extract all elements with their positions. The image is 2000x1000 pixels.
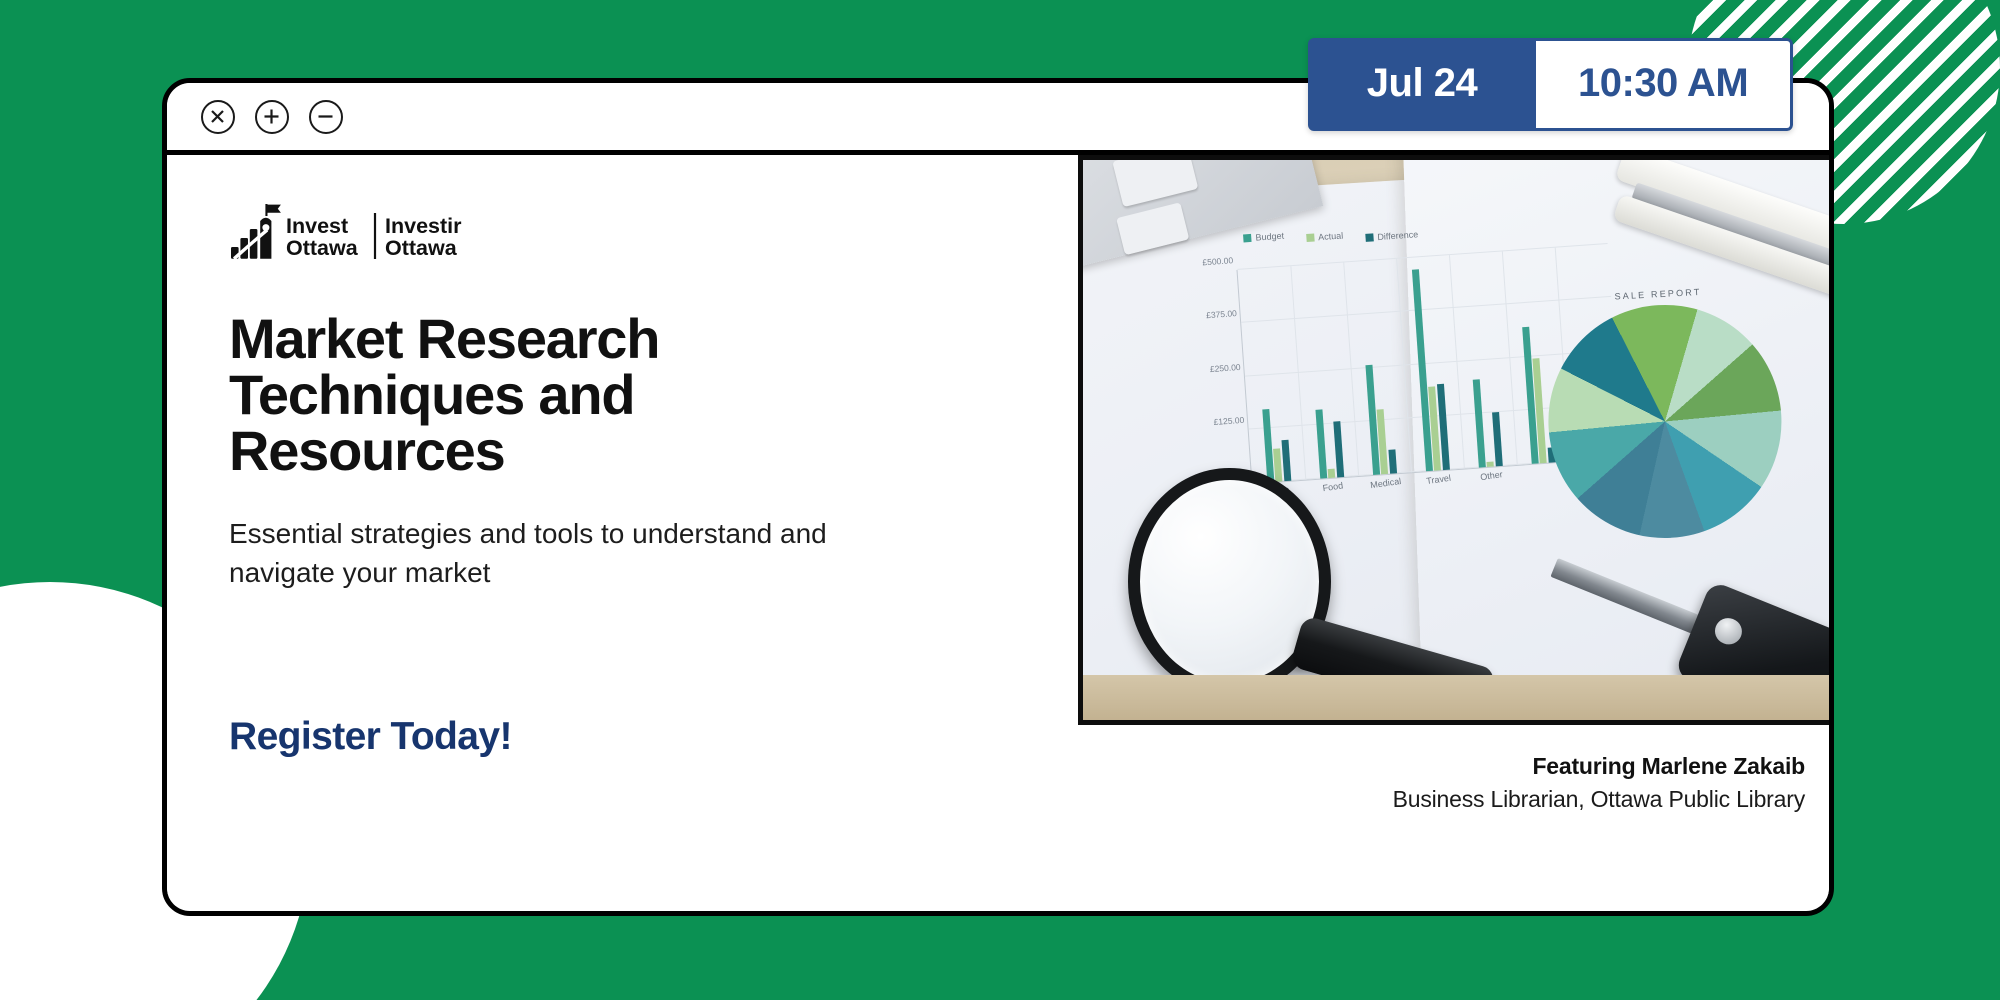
bar-group: Medical — [1357, 260, 1396, 475]
pie-chart-disc — [1542, 299, 1786, 543]
y-axis-tick-label: £125.00 — [1213, 415, 1244, 427]
y-axis-tick-label: £250.00 — [1209, 362, 1240, 374]
legend-swatch — [1243, 234, 1252, 243]
bar — [1273, 449, 1282, 482]
zoom-in-button[interactable] — [255, 100, 289, 134]
logo-ottawa-fr: Ottawa — [385, 236, 458, 260]
page-title: Market Research Techniques and Resources — [229, 311, 889, 479]
media-column: BudgetActualDifference £0.00£125.00£250.… — [1077, 155, 1829, 906]
zoom-out-button[interactable] — [309, 100, 343, 134]
bar-group: Auto — [1251, 267, 1290, 482]
logo-invest-fr: Investir — [385, 214, 462, 238]
bar-group: Travel — [1410, 256, 1449, 471]
y-axis-tick-label: £375.00 — [1205, 309, 1236, 321]
legend-item: Budget — [1242, 224, 1284, 252]
legend-item: Actual — [1305, 226, 1343, 247]
speaker-role: Business Librarian, Ottawa Public Librar… — [1065, 786, 1805, 813]
date-time-badge: Jul 24 10:30 AM — [1308, 38, 1793, 131]
bar — [1486, 462, 1493, 467]
x-axis-tick-label: Food — [1321, 481, 1343, 494]
y-axis-tick-label: £500.00 — [1202, 255, 1233, 267]
legend-label: Difference — [1376, 229, 1417, 242]
register-today-link[interactable]: Register Today! — [229, 715, 512, 759]
legend-label: Actual — [1317, 230, 1343, 242]
legend-swatch — [1365, 233, 1374, 242]
x-axis-tick-label: Other — [1479, 469, 1503, 482]
x-axis-tick-label: Medical — [1369, 476, 1401, 490]
logo-ottawa-en: Ottawa — [286, 236, 359, 260]
photo-scene: BudgetActualDifference £0.00£125.00£250.… — [1083, 160, 1833, 720]
event-card: Invest Ottawa Investir Ottawa Market Res… — [162, 78, 1834, 916]
bar — [1387, 450, 1396, 474]
bar — [1411, 270, 1432, 471]
bar — [1261, 409, 1273, 482]
featuring-block: Featuring Marlene Zakaib Business Librar… — [1065, 753, 1805, 813]
bar — [1491, 412, 1502, 466]
card-body: Invest Ottawa Investir Ottawa Market Res… — [167, 155, 1829, 906]
event-time: 10:30 AM — [1536, 38, 1793, 131]
bar — [1314, 410, 1326, 479]
close-button[interactable] — [201, 100, 235, 134]
bar — [1472, 380, 1485, 468]
bar-group: Food — [1304, 263, 1343, 478]
speaker-name: Featuring Marlene Zakaib — [1065, 753, 1805, 780]
legend-label: Budget — [1255, 231, 1284, 243]
bar-group: Other — [1463, 252, 1502, 467]
legend-swatch — [1305, 233, 1314, 242]
bar — [1327, 469, 1335, 478]
legend-item: Difference — [1365, 229, 1418, 243]
event-date: Jul 24 — [1308, 38, 1536, 131]
photo-pie-chart: SALE REPORT — [1542, 283, 1787, 543]
desk-edge — [1083, 675, 1833, 720]
content-column: Invest Ottawa Investir Ottawa Market Res… — [167, 155, 1077, 906]
parliament-tower-bar-chart-icon — [231, 204, 281, 260]
x-axis-tick-label: Travel — [1425, 473, 1451, 486]
promo-banner: Invest Ottawa Investir Ottawa Market Res… — [0, 0, 2000, 1000]
event-photo: BudgetActualDifference £0.00£125.00£250.… — [1078, 155, 1834, 725]
invest-ottawa-logo: Invest Ottawa Investir Ottawa — [229, 203, 1037, 265]
page-subtitle: Essential strategies and tools to unders… — [229, 515, 869, 592]
logo-invest-en: Invest — [286, 214, 348, 238]
magnifying-glass — [1128, 468, 1331, 695]
car-key-button — [1711, 614, 1745, 648]
